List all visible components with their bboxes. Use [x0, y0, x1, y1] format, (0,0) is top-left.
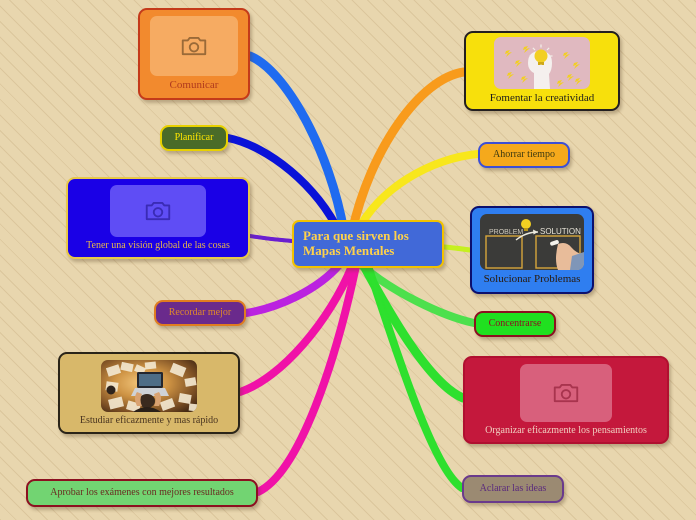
node-aprobar-examenes[interactable]: Aprobar los exámenes con mejores resulta…: [26, 479, 258, 507]
node-label-fomentar-creatividad: Fomentar la creatividad: [466, 92, 618, 105]
svg-text:SOLUTION: SOLUTION: [540, 227, 581, 236]
connector-comunicar: [250, 56, 344, 232]
node-comunicar[interactable]: Comunicar: [138, 8, 250, 100]
node-fomentar-creatividad[interactable]: Fomentar la creatividad: [464, 31, 620, 111]
connector-solucionar-problemas: [444, 247, 470, 250]
creativity-illustration: [494, 37, 590, 89]
camera-icon: [143, 196, 173, 226]
node-thumbnail-comunicar: [150, 16, 238, 76]
node-organizar-pensamientos[interactable]: Organizar eficazmente los pensamientos: [463, 356, 669, 444]
node-label-comunicar: Comunicar: [140, 79, 248, 92]
camera-icon: [551, 378, 581, 408]
node-solucionar-problemas[interactable]: PROBLEMSOLUTIONSolucionar Problemas: [470, 206, 594, 294]
connector-estudiar-eficazmente: [240, 266, 352, 392]
problem-solution-illustration: PROBLEMSOLUTION: [480, 214, 584, 270]
node-thumbnail-vision-global: [110, 185, 206, 237]
node-label-central: Para que sirven losMapas Mentales: [294, 229, 442, 259]
node-aclarar-ideas[interactable]: Aclarar las ideas: [462, 475, 564, 503]
connector-fomentar-creatividad: [352, 72, 464, 232]
connector-recordar-mejor: [246, 264, 340, 313]
node-vision-global[interactable]: Tener una visión global de las cosas: [66, 177, 250, 259]
node-thumbnail-estudiar-eficazmente: [101, 360, 197, 412]
node-thumbnail-organizar-pensamientos: [520, 364, 612, 422]
connector-aprobar-examenes: [258, 266, 356, 492]
node-label-ahorrar-tiempo: Ahorrar tiempo: [480, 149, 568, 161]
connector-aclarar-ideas: [368, 266, 462, 488]
node-label-organizar-pensamientos: Organizar eficazmente los pensamientos: [465, 425, 667, 437]
connector-concentrarse: [360, 264, 474, 323]
node-estudiar-eficazmente[interactable]: Estudiar eficazmente y mas rápido: [58, 352, 240, 434]
node-recordar-mejor[interactable]: Recordar mejor: [154, 300, 246, 326]
node-label-planificar: Planificar: [162, 132, 226, 144]
node-label-estudiar-eficazmente: Estudiar eficazmente y mas rápido: [60, 415, 238, 427]
connector-organizar-pensamientos: [364, 266, 463, 398]
node-planificar[interactable]: Planificar: [160, 125, 228, 151]
node-thumbnail-solucionar-problemas: PROBLEMSOLUTION: [480, 214, 584, 270]
node-label-solucionar-problemas: Solucionar Problemas: [472, 273, 592, 286]
node-label-aprobar-examenes: Aprobar los exámenes con mejores resulta…: [28, 487, 256, 499]
svg-text:PROBLEM: PROBLEM: [489, 229, 523, 236]
connector-vision-global: [250, 236, 292, 241]
node-label-concentrarse: Concentrarse: [476, 318, 554, 330]
study-photo-illustration: [101, 360, 197, 412]
node-thumbnail-fomentar-creatividad: [494, 37, 590, 89]
node-label-aclarar-ideas: Aclarar las ideas: [464, 483, 562, 495]
node-label-recordar-mejor: Recordar mejor: [156, 307, 244, 319]
node-label-vision-global: Tener una visión global de las cosas: [68, 240, 248, 252]
camera-icon: [179, 31, 209, 61]
mindmap-canvas: ComunicarFomentar la creatividadPlanific…: [0, 0, 696, 520]
node-ahorrar-tiempo[interactable]: Ahorrar tiempo: [478, 142, 570, 168]
node-central[interactable]: Para que sirven losMapas Mentales: [292, 220, 444, 268]
node-concentrarse[interactable]: Concentrarse: [474, 311, 556, 337]
